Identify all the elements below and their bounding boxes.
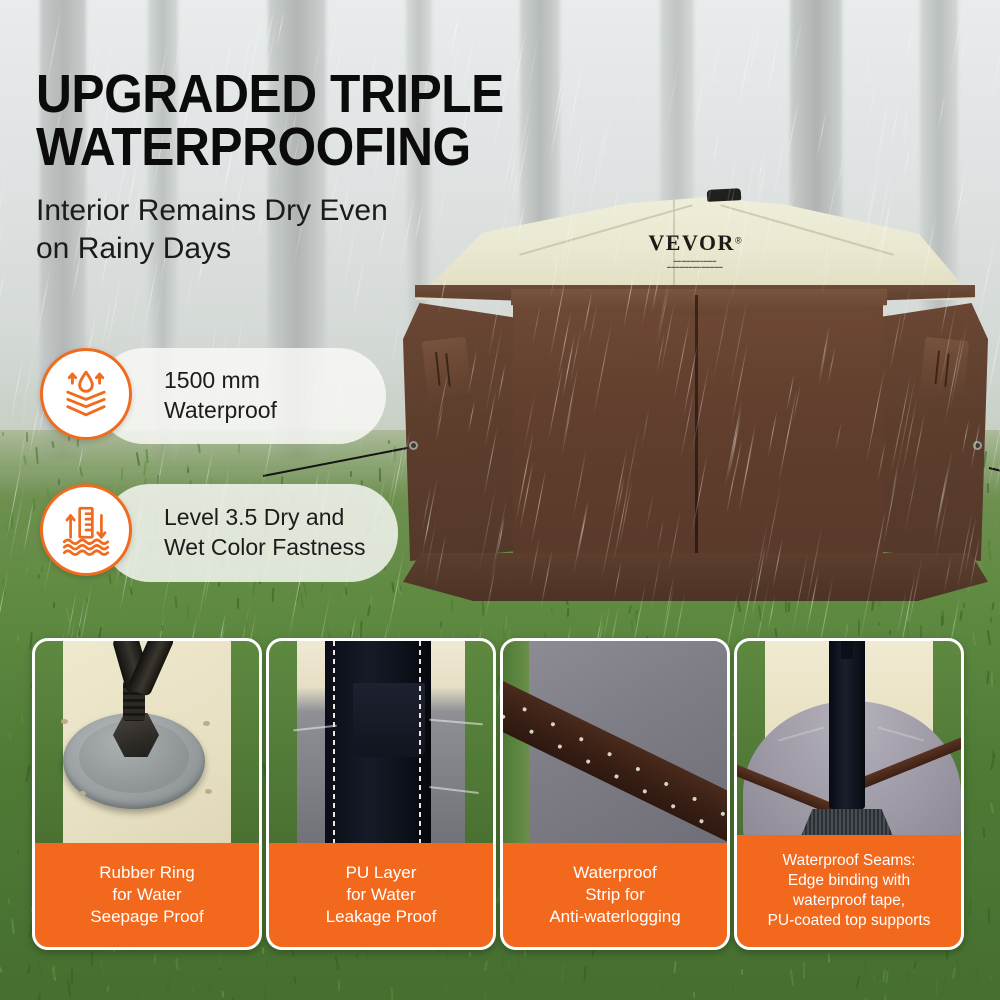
detail-card-waterproof-strip-caption: Waterproof Strip for Anti-waterlogging: [503, 843, 727, 947]
waterproof-strip-photo: [503, 641, 727, 849]
tent-grommet-left: [409, 441, 418, 450]
feature-pill-color-fastness-text: Level 3.5 Dry and Wet Color Fastness: [102, 503, 366, 563]
tent-apex-cap: [707, 188, 742, 202]
tent-pocket-left: [422, 337, 472, 403]
tent-ground-skirt: [403, 553, 988, 601]
subtitle-line-1: Interior Remains Dry Even: [36, 192, 556, 230]
feature-pill-color-fastness: Level 3.5 Dry and Wet Color Fastness: [102, 484, 398, 582]
detail-card-waterproof-seams[interactable]: Waterproof Seams: Edge binding with wate…: [734, 638, 964, 950]
pu-layer-seam-photo: [269, 641, 493, 849]
tent-door-zipper: [695, 295, 698, 571]
subtitle-line-2: on Rainy Days: [36, 230, 556, 268]
water-drop-layers-icon-svg: [57, 365, 115, 423]
water-level-gauge-icon-svg: [57, 501, 115, 559]
tent-front-panel-left: [513, 291, 699, 569]
water-level-gauge-icon: [40, 484, 132, 576]
tent-body-panels: [403, 291, 988, 581]
detail-card-waterproof-strip[interactable]: Waterproof Strip for Anti-waterlogging: [500, 638, 730, 950]
headline-block: UPGRADED TRIPLE WATERPROOFING Interior R…: [36, 68, 556, 269]
detail-card-waterproof-seams-caption: Waterproof Seams: Edge binding with wate…: [737, 835, 961, 947]
detail-card-pu-layer[interactable]: PU Layer for Water Leakage Proof: [266, 638, 496, 950]
brand-logo: VEVOR® ▬▬▬▬▬▬▬▬▬▬▬▬▬▬▬▬▬▬▬▬▬▬▬: [620, 230, 770, 269]
feature-pill-waterproof: 1500 mm Waterproof: [96, 348, 386, 444]
detail-card-rubber-ring-caption: Rubber Ring for Water Seepage Proof: [35, 843, 259, 947]
waterproof-seams-interior-photo: [737, 641, 961, 841]
headline-line-2: WATERPROOFING: [36, 121, 514, 174]
tent-grommet-right: [973, 441, 982, 450]
guy-line-right: [989, 467, 1000, 502]
tent-front-panel-right: [697, 291, 883, 569]
detail-card-pu-layer-caption: PU Layer for Water Leakage Proof: [269, 843, 493, 947]
headline-line-1: UPGRADED TRIPLE: [36, 68, 514, 121]
rubber-ring-grommet-photo: [35, 641, 259, 849]
detail-card-rubber-ring[interactable]: Rubber Ring for Water Seepage Proof: [32, 638, 262, 950]
water-drop-layers-icon: [40, 348, 132, 440]
tent-pocket-right: [919, 337, 969, 403]
detail-cards-row: Rubber Ring for Water Seepage Proof PU L…: [0, 638, 1000, 954]
